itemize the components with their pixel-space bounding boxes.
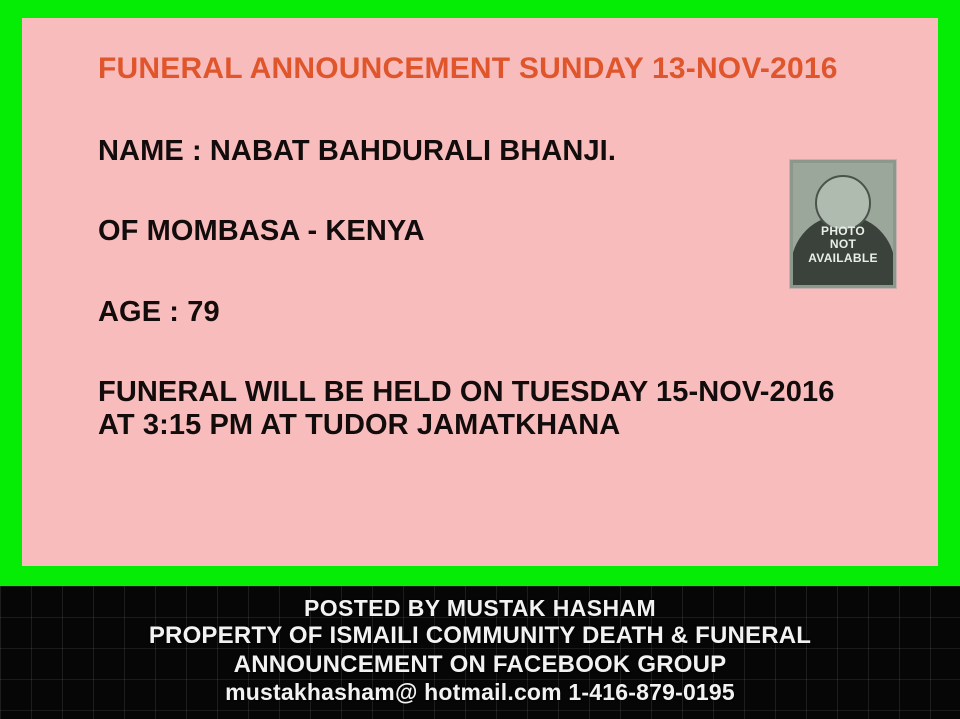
funeral-details-line-2: AT 3:15 PM AT TUDOR JAMATKHANA (98, 409, 898, 441)
photo-caption-line-1: PHOTO (793, 225, 893, 238)
footer-posted-by: POSTED BY MUSTAK HASHAM (0, 595, 960, 622)
announcement-card: FUNERAL ANNOUNCEMENT SUNDAY 13-NOV-2016 … (22, 18, 938, 566)
person-head-icon (815, 175, 871, 231)
announcement-headline: FUNERAL ANNOUNCEMENT SUNDAY 13-NOV-2016 (98, 52, 898, 85)
spacer (98, 167, 898, 215)
deceased-age-line: AGE : 79 (98, 296, 898, 328)
announcement-card-content: FUNERAL ANNOUNCEMENT SUNDAY 13-NOV-2016 … (22, 18, 938, 566)
photo-caption-line-3: AVAILABLE (793, 252, 893, 265)
footer-text-block: POSTED BY MUSTAK HASHAM PROPERTY OF ISMA… (0, 595, 960, 707)
footer-contact-line: mustakhasham@ hotmail.com 1-416-879-0195 (0, 679, 960, 706)
spacer (98, 85, 898, 135)
funeral-details-line-1: FUNERAL WILL BE HELD ON TUESDAY 15-NOV-2… (98, 376, 898, 408)
deceased-name-line: NAME : NABAT BAHDURALI BHANJI. (98, 135, 898, 167)
spacer (98, 328, 898, 376)
footer-group-line: ANNOUNCEMENT ON FACEBOOK GROUP (0, 651, 960, 680)
footer-property-line: PROPERTY OF ISMAILI COMMUNITY DEATH & FU… (0, 622, 960, 651)
photo-placeholder-caption: PHOTO NOT AVAILABLE (793, 225, 893, 265)
deceased-origin-line: OF MOMBASA - KENYA (98, 215, 898, 247)
photo-not-available-box: PHOTO NOT AVAILABLE (790, 160, 896, 288)
spacer (98, 248, 898, 296)
funeral-announcement-poster: FUNERAL ANNOUNCEMENT SUNDAY 13-NOV-2016 … (0, 0, 960, 719)
photo-caption-line-2: NOT (793, 238, 893, 251)
poster-footer: POSTED BY MUSTAK HASHAM PROPERTY OF ISMA… (0, 586, 960, 719)
